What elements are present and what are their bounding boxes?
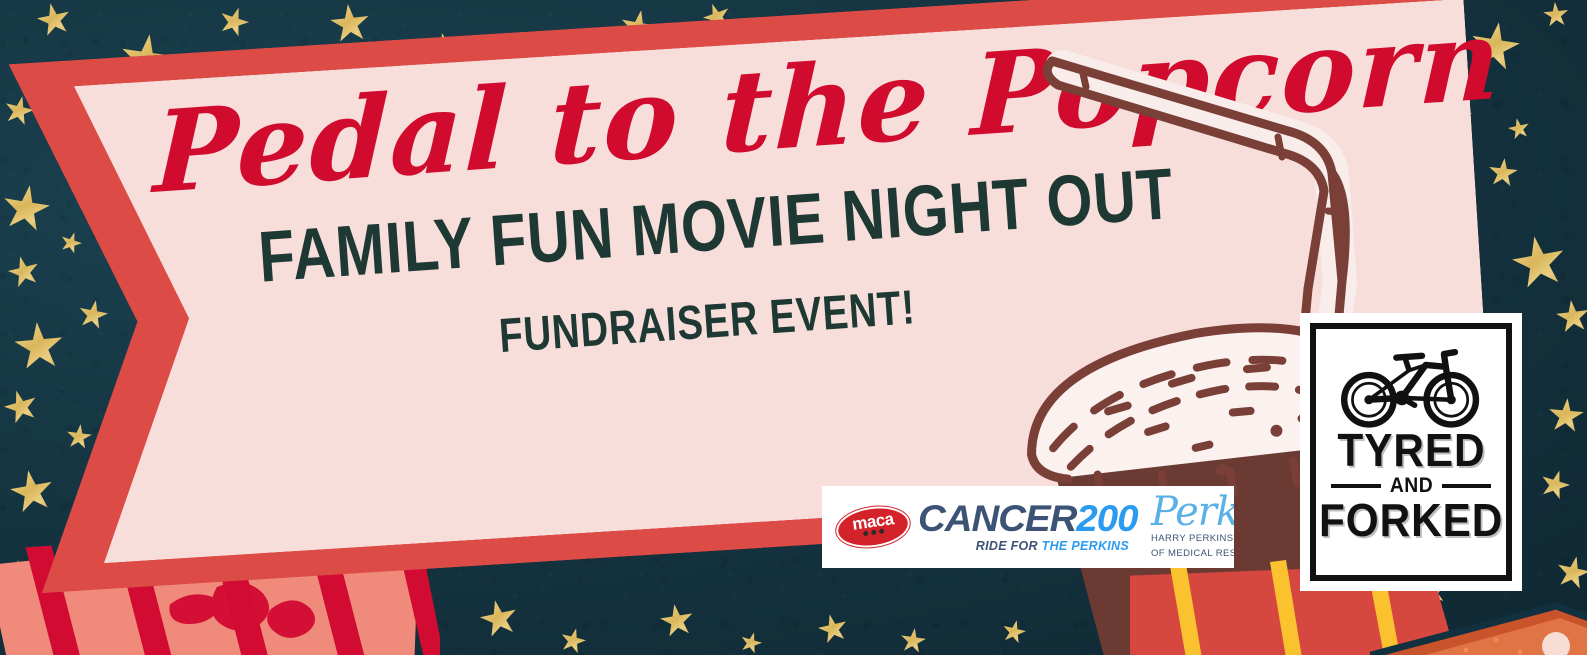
perkins-institute-line2: OF MEDICAL RESEARCH bbox=[1151, 548, 1234, 560]
bicycle-icon bbox=[1336, 343, 1486, 429]
cancer200-tagline-accent: THE PERKINS bbox=[1042, 539, 1129, 553]
tyred-and-forked-logo: TYRED AND FORKED bbox=[1300, 313, 1522, 591]
cancer200-tagline: RIDE FOR THE PERKINS bbox=[918, 539, 1129, 553]
perkins-logo: Perkins HARRY PERKINS INSTITUTE OF MEDIC… bbox=[1151, 494, 1234, 560]
event-banner-poster: Pedal to the Popcorn FAMILY FUN MOVIE NI… bbox=[0, 0, 1587, 655]
orange-shape-icon bbox=[1370, 600, 1587, 655]
rule-left bbox=[1331, 484, 1381, 488]
tyred-text: TYRED bbox=[1337, 429, 1485, 471]
cancer200-word-cancer: CANCER bbox=[918, 498, 1076, 539]
cancer200-logo: CANCER200 RIDE FOR THE PERKINS bbox=[918, 501, 1129, 552]
orange-decoration bbox=[1370, 600, 1587, 655]
rule-right bbox=[1442, 484, 1492, 488]
cancer200-word-200: 200 bbox=[1076, 498, 1137, 539]
sponsor-logo-strip: maca CANCER200 RIDE FOR THE PERKINS Perk… bbox=[822, 486, 1234, 568]
forked-text: FORKED bbox=[1319, 499, 1503, 541]
cancer200-wordmark: CANCER200 bbox=[918, 501, 1137, 536]
maca-logo: maca bbox=[836, 507, 910, 547]
cancer200-tagline-lead: RIDE FOR bbox=[976, 539, 1042, 553]
tyred-and-forked-frame: TYRED AND FORKED bbox=[1310, 323, 1512, 581]
perkins-institute-line1: HARRY PERKINS INSTITUTE bbox=[1151, 533, 1234, 545]
perkins-script-wordmark: Perkins bbox=[1151, 494, 1234, 530]
